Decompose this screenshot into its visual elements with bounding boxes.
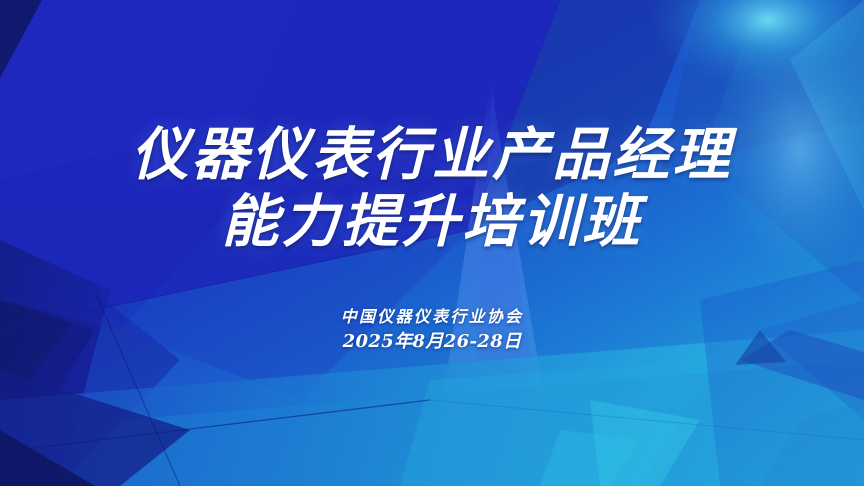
event-date: 2025年8月26-28日 [0, 327, 864, 353]
poster-slide: 仪器仪表行业产品经理 能力提升培训班 中国仪器仪表行业协会 2025年8月26-… [0, 0, 864, 486]
poster-title-line-1: 仪器仪表行业产品经理 [0, 126, 864, 183]
poster-title-line-2: 能力提升培训班 [0, 193, 864, 250]
organizer-name: 中国仪器仪表行业协会 [0, 303, 864, 327]
